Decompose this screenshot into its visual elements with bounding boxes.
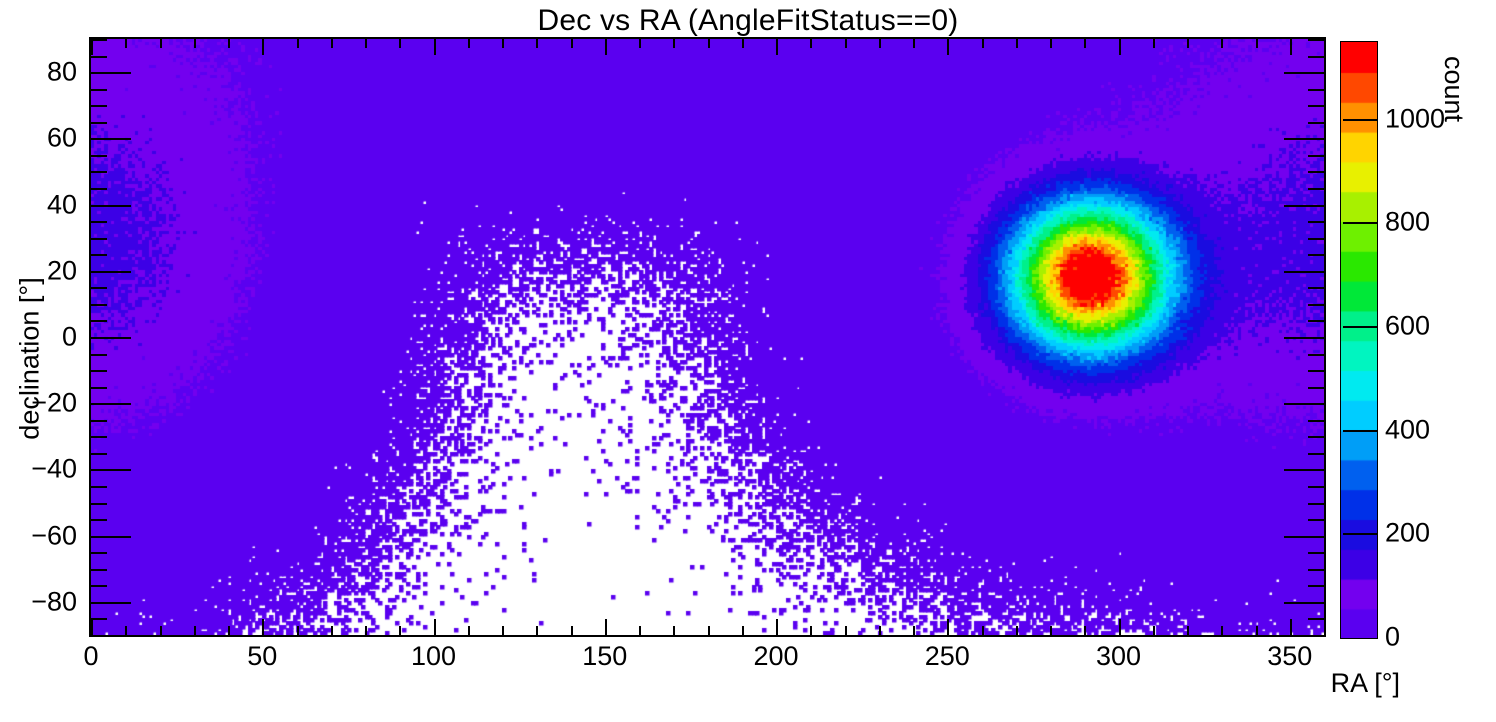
axis-tick [605, 39, 607, 55]
axis-tick [468, 39, 470, 48]
color-scale-tick [1343, 222, 1377, 224]
color-scale-tick-label: 600 [1385, 311, 1430, 342]
axis-tick [1308, 238, 1324, 240]
axis-tick [1308, 387, 1324, 389]
axis-tick [160, 626, 162, 635]
axis-tick [434, 619, 436, 635]
axis-tick [1308, 585, 1324, 587]
axis-tick [365, 39, 367, 48]
axis-tick [502, 626, 504, 635]
axis-tick [262, 619, 264, 635]
axis-tick [365, 626, 367, 635]
axis-tick [1290, 39, 1292, 55]
axis-tick [1308, 420, 1324, 422]
axis-tick [91, 337, 131, 339]
axis-tick [1308, 503, 1324, 505]
axis-tick [1153, 626, 1155, 635]
axis-tick [982, 39, 984, 48]
x-tick-label: 250 [925, 641, 970, 672]
axis-tick [571, 626, 573, 635]
axis-tick [1187, 39, 1189, 48]
axis-tick [91, 171, 107, 173]
axis-tick [1284, 138, 1324, 140]
y-tick-label: 40 [0, 189, 77, 220]
axis-tick [1308, 370, 1324, 372]
axis-tick [947, 39, 949, 55]
axis-tick [91, 354, 107, 356]
axis-tick [1284, 337, 1324, 339]
axis-tick [91, 72, 131, 74]
axis-tick [331, 626, 333, 635]
axis-tick [228, 39, 230, 48]
axis-tick [91, 320, 107, 322]
color-scale-tick-label: 0 [1385, 622, 1400, 653]
axis-tick [91, 635, 107, 637]
axis-tick [1256, 626, 1258, 635]
x-tick-label: 0 [83, 641, 98, 672]
axis-tick [91, 486, 107, 488]
plot-frame [89, 37, 1326, 637]
axis-tick [1308, 569, 1324, 571]
color-scale-tick-label: 400 [1385, 414, 1430, 445]
axis-tick [91, 619, 93, 635]
axis-tick [1284, 205, 1324, 207]
axis-tick [91, 221, 107, 223]
axis-tick [125, 626, 127, 635]
axis-tick [91, 89, 107, 91]
axis-tick [91, 387, 107, 389]
axis-tick [91, 155, 107, 157]
x-tick-label: 100 [411, 641, 456, 672]
color-scale-gradient [1341, 42, 1377, 638]
x-tick-label: 200 [753, 641, 798, 672]
axis-tick [91, 569, 107, 571]
axis-tick [468, 626, 470, 635]
axis-tick [708, 626, 710, 635]
axis-tick [1308, 56, 1324, 58]
axis-tick [708, 39, 710, 48]
color-scale-tick-label: 1000 [1385, 103, 1445, 134]
plot-canvas: Dec vs RA (AngleFitStatus==0) 0501001502… [0, 0, 1496, 722]
axis-tick [1324, 39, 1326, 48]
y-tick-label: −80 [0, 586, 77, 617]
x-tick-label: 350 [1267, 641, 1312, 672]
axis-tick [1308, 122, 1324, 124]
axis-tick [1284, 536, 1324, 538]
axis-tick [91, 188, 107, 190]
axis-tick [536, 39, 538, 48]
y-axis-title-text: declination [°] [15, 239, 46, 479]
axis-tick [810, 39, 812, 48]
axis-tick [297, 39, 299, 48]
x-tick-label: 300 [1096, 641, 1141, 672]
axis-tick [1256, 39, 1258, 48]
axis-tick [91, 453, 107, 455]
axis-tick [1308, 552, 1324, 554]
color-scale-tick [1343, 533, 1377, 535]
axis-tick [1050, 39, 1052, 48]
axis-tick [91, 602, 131, 604]
axis-tick [91, 254, 107, 256]
axis-tick [1221, 626, 1223, 635]
axis-tick [1308, 171, 1324, 173]
color-scale-tick [1343, 326, 1377, 328]
axis-tick [91, 618, 107, 620]
axis-tick [434, 39, 436, 55]
axis-tick [91, 138, 131, 140]
axis-tick [1308, 221, 1324, 223]
axis-tick [91, 585, 107, 587]
axis-tick [160, 39, 162, 48]
color-scale-tick [1343, 119, 1377, 121]
axis-tick [1119, 39, 1121, 55]
axis-tick [91, 536, 131, 538]
axis-tick [228, 626, 230, 635]
color-scale-tick-label: 200 [1385, 518, 1430, 549]
axis-tick [91, 469, 131, 471]
page-title: Dec vs RA (AngleFitStatus==0) [0, 4, 1496, 38]
axis-tick [91, 287, 107, 289]
axis-tick [1308, 105, 1324, 107]
axis-tick [1284, 469, 1324, 471]
axis-tick [571, 39, 573, 48]
heatmap-image [91, 39, 1324, 635]
axis-tick [1308, 486, 1324, 488]
axis-tick [810, 626, 812, 635]
axis-tick [399, 39, 401, 48]
axis-tick [91, 39, 93, 55]
axis-tick [1308, 320, 1324, 322]
color-scale-title-text: count [1438, 56, 1469, 122]
x-tick-label: 150 [582, 641, 627, 672]
color-scale-tick-label: 800 [1385, 207, 1430, 238]
axis-tick [639, 626, 641, 635]
axis-tick [845, 39, 847, 48]
axis-tick [1084, 626, 1086, 635]
x-axis-title: RA [°] [1331, 668, 1400, 699]
axis-tick [91, 370, 107, 372]
axis-tick [1308, 618, 1324, 620]
y-tick-label: 80 [0, 57, 77, 88]
axis-tick [742, 39, 744, 48]
axis-tick [639, 39, 641, 48]
axis-tick [91, 56, 107, 58]
x-tick-label: 50 [247, 641, 277, 672]
axis-tick [1153, 39, 1155, 48]
axis-tick [1284, 271, 1324, 273]
axis-tick [262, 39, 264, 55]
axis-tick [776, 39, 778, 55]
axis-tick [776, 619, 778, 635]
axis-tick [1308, 635, 1324, 637]
axis-tick [1119, 619, 1121, 635]
axis-tick [91, 205, 131, 207]
axis-tick [502, 39, 504, 48]
axis-tick [194, 626, 196, 635]
axis-tick [194, 39, 196, 48]
color-scale-bar [1340, 41, 1378, 639]
axis-tick [1308, 287, 1324, 289]
axis-tick [91, 238, 107, 240]
axis-tick [1084, 39, 1086, 48]
axis-tick [91, 39, 107, 41]
axis-tick [1308, 436, 1324, 438]
axis-tick [91, 436, 107, 438]
axis-tick [91, 271, 131, 273]
axis-tick [297, 626, 299, 635]
axis-tick [605, 619, 607, 635]
axis-tick [1284, 403, 1324, 405]
axis-tick [1221, 39, 1223, 48]
y-tick-label: −60 [0, 520, 77, 551]
axis-tick [1284, 602, 1324, 604]
axis-tick [91, 519, 107, 521]
axis-tick [536, 626, 538, 635]
axis-tick [331, 39, 333, 48]
axis-tick [91, 503, 107, 505]
axis-tick [845, 626, 847, 635]
axis-tick [913, 39, 915, 48]
axis-tick [1290, 619, 1292, 635]
axis-tick [91, 552, 107, 554]
axis-tick [91, 105, 107, 107]
axis-tick [1187, 626, 1189, 635]
axis-tick [913, 626, 915, 635]
axis-tick [879, 39, 881, 48]
axis-tick [742, 626, 744, 635]
axis-tick [91, 420, 107, 422]
axis-tick [1016, 39, 1018, 48]
axis-tick [1308, 89, 1324, 91]
axis-tick [1308, 155, 1324, 157]
axis-tick [947, 619, 949, 635]
axis-tick [125, 39, 127, 48]
axis-tick [1308, 354, 1324, 356]
axis-tick [1050, 626, 1052, 635]
axis-tick [673, 626, 675, 635]
axis-tick [1016, 626, 1018, 635]
axis-tick [1324, 626, 1326, 635]
axis-tick [982, 626, 984, 635]
axis-tick [91, 122, 107, 124]
axis-tick [91, 304, 107, 306]
y-tick-label: 60 [0, 123, 77, 154]
color-scale-tick [1343, 430, 1377, 432]
axis-tick [1308, 304, 1324, 306]
axis-tick [399, 626, 401, 635]
axis-tick [1308, 519, 1324, 521]
axis-tick [1308, 39, 1324, 41]
axis-tick [879, 626, 881, 635]
axis-tick [673, 39, 675, 48]
axis-tick [1284, 72, 1324, 74]
axis-tick [1308, 188, 1324, 190]
axis-tick [91, 403, 131, 405]
axis-tick [1308, 453, 1324, 455]
axis-tick [1308, 254, 1324, 256]
